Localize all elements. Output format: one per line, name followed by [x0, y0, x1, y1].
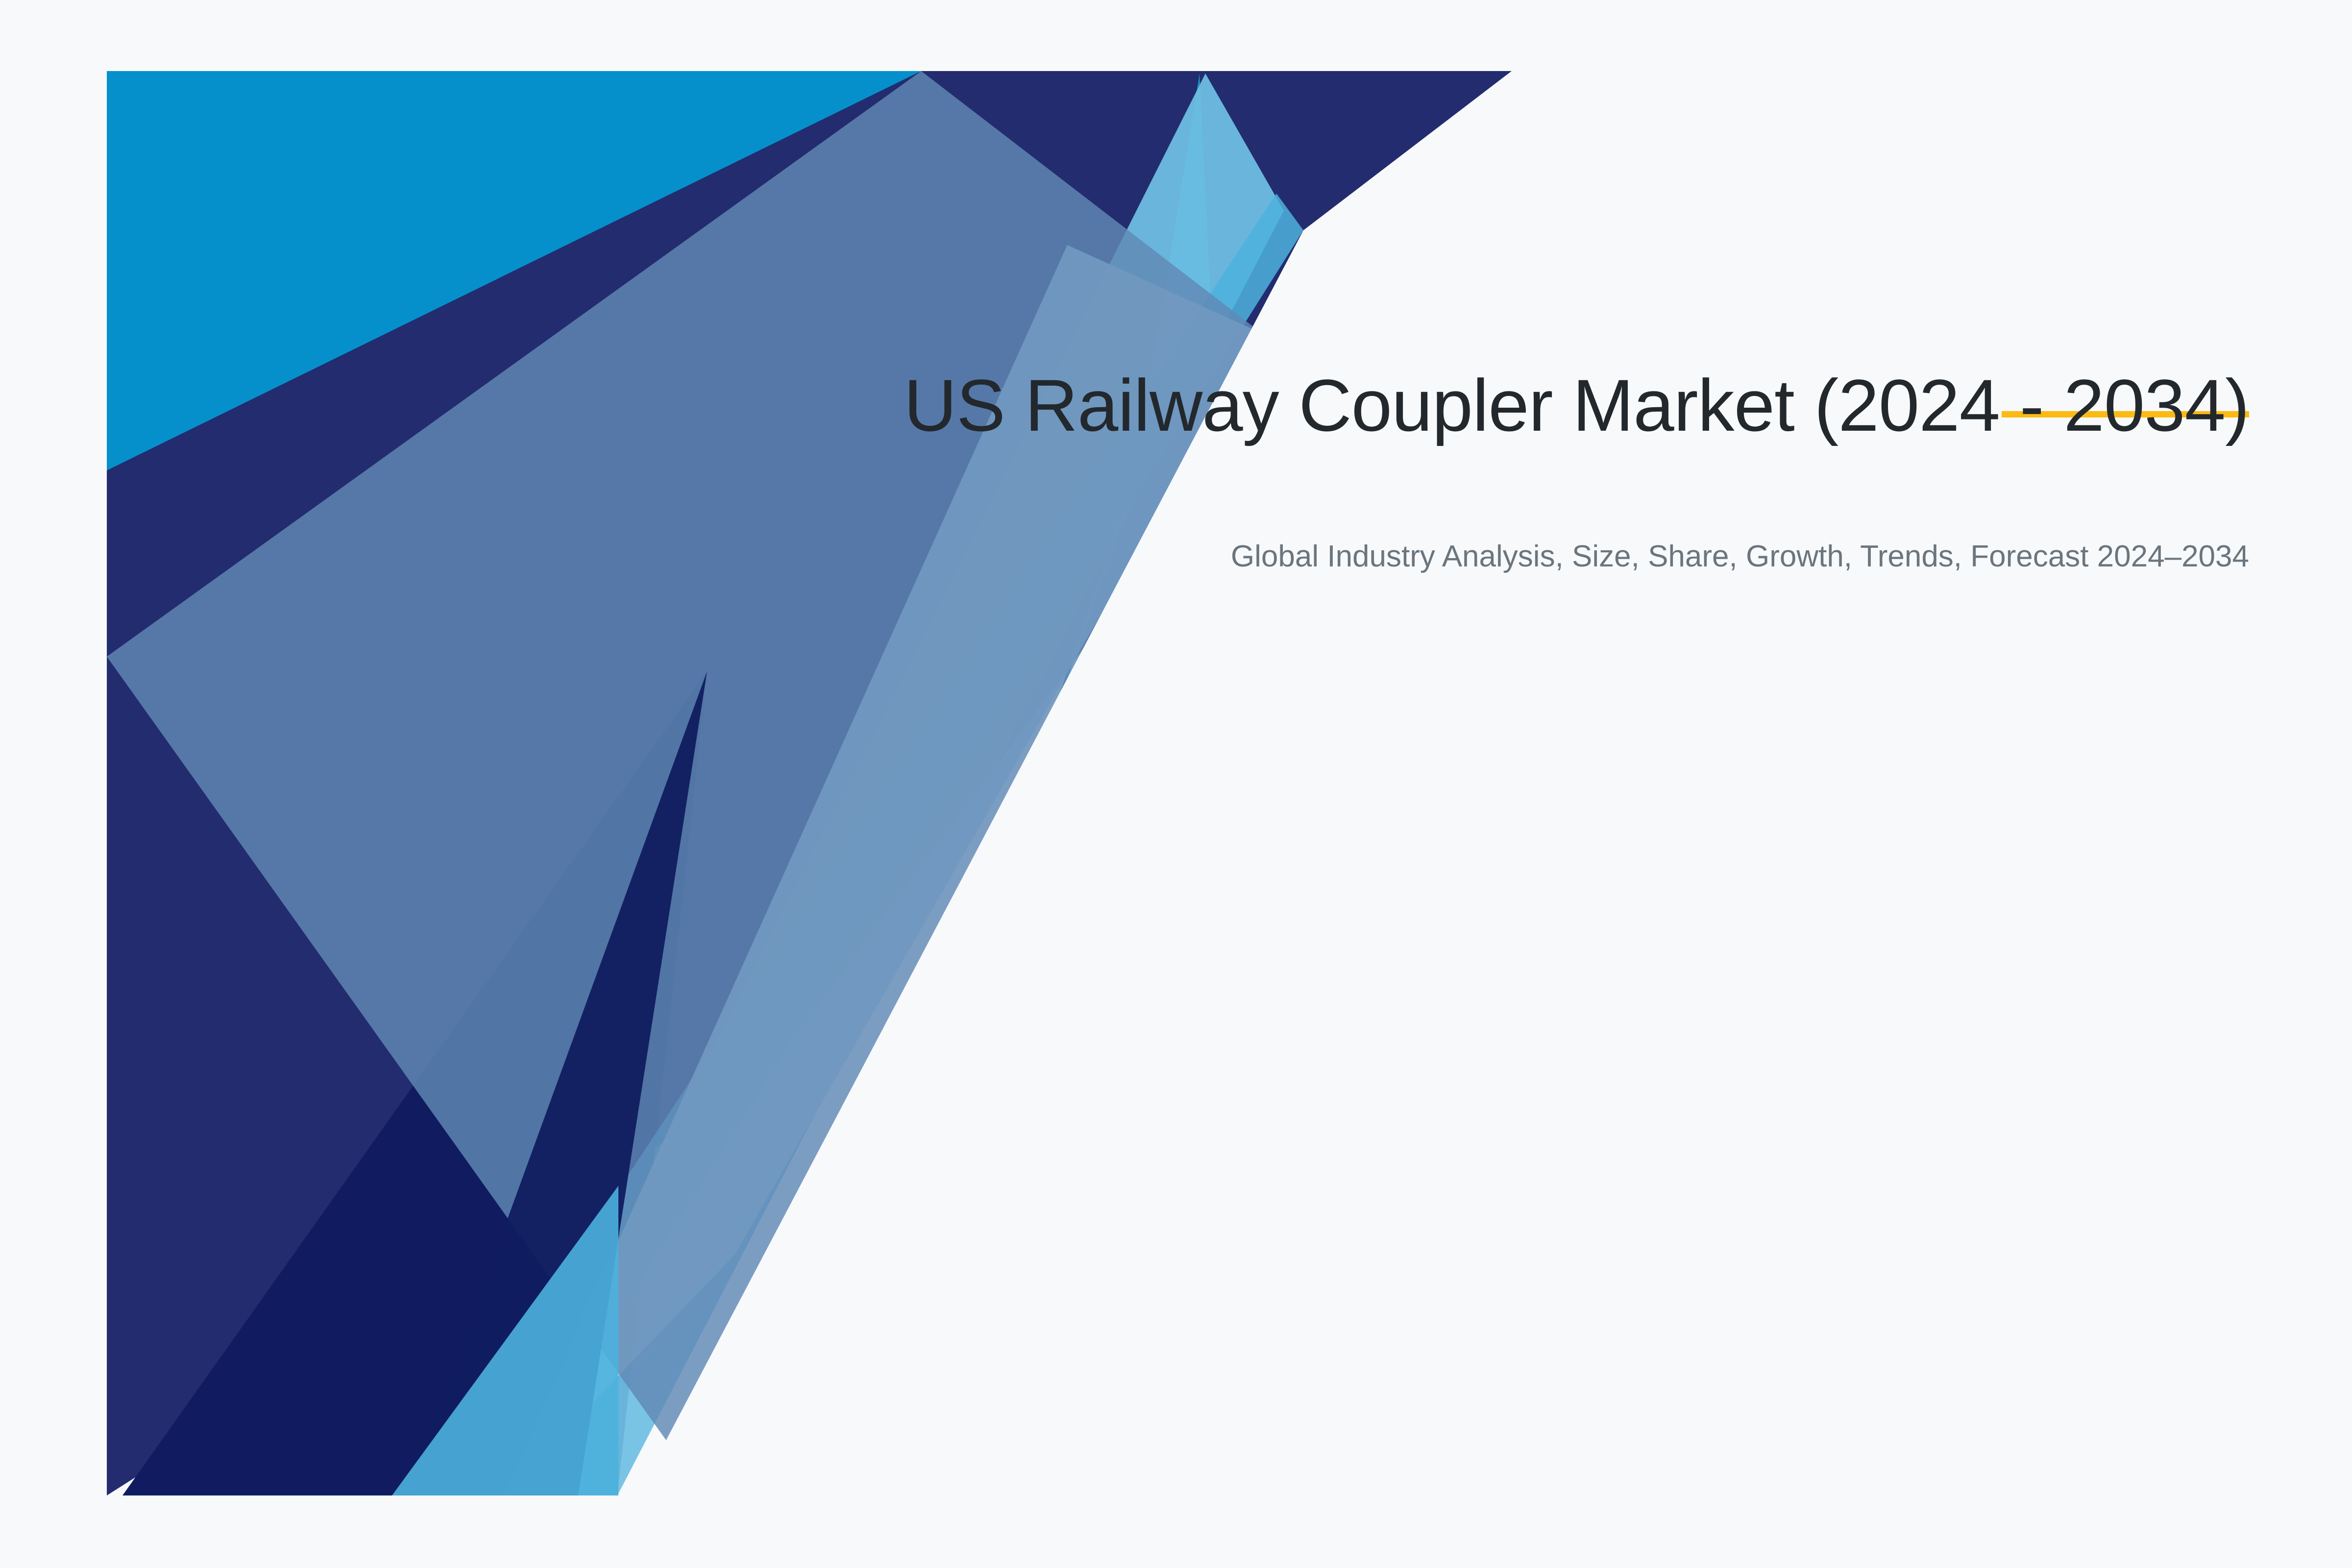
shape-steel-blue-overlay: [107, 71, 1262, 1495]
shape-deep-navy-spike: [122, 671, 707, 1495]
page-subtitle: Global Industry Analysis, Size, Share, G…: [833, 536, 2249, 577]
shape-background-mask-left: [0, 0, 107, 1568]
abstract-geometric-artwork: [0, 0, 2352, 1568]
cover-slide: US Railway Coupler Market (2024 - 2034) …: [0, 0, 2352, 1568]
shape-sky-blue-band: [490, 73, 1284, 1495]
shape-bottom-cyan: [392, 1186, 618, 1495]
page-title: US Railway Coupler Market (2024 - 2034): [833, 363, 2249, 448]
shape-background-mask-bottom: [0, 1495, 2352, 1568]
shape-navy-sweep: [107, 71, 1512, 1495]
shape-background-mask-top: [0, 0, 2352, 71]
title-wrap: US Railway Coupler Market (2024 - 2034): [833, 363, 2249, 448]
shape-background-mask-right: [617, 71, 2352, 1568]
cover-text-block: US Railway Coupler Market (2024 - 2034) …: [833, 363, 2249, 577]
shape-cyan-block: [107, 71, 921, 1495]
shape-navy-narrow-spike: [407, 671, 707, 1495]
